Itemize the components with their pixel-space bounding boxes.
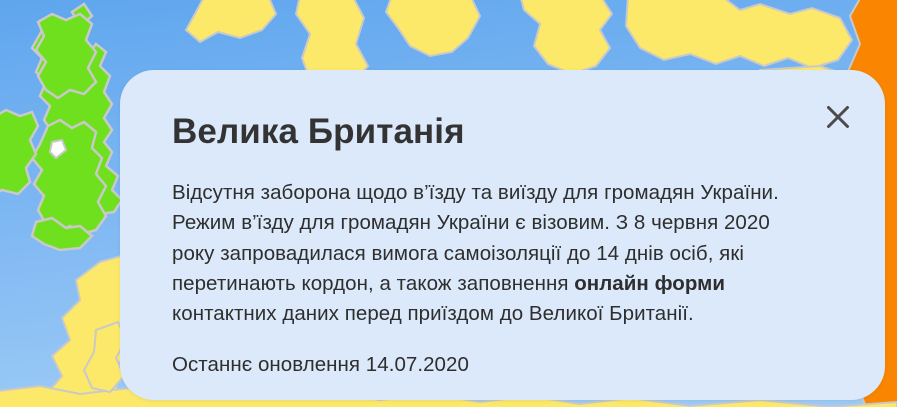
online-form-link[interactable]: онлайн форми (574, 272, 725, 295)
close-icon (825, 104, 851, 130)
map-region-scotland[interactable] (36, 14, 96, 98)
screen: Велика Британія Відсутня заборона щодо в… (0, 0, 897, 407)
country-info-card: Велика Британія Відсутня заборона щодо в… (120, 70, 885, 400)
card-body-part-2: контактних даних перед приїздом до Велик… (172, 302, 694, 325)
last-updated-text: Останнє оновлення 14.07.2020 (172, 329, 833, 380)
page-title: Велика Британія (172, 106, 833, 152)
close-button[interactable] (817, 96, 859, 138)
card-body-text: Відсутня заборона щодо в’їзду та виїзду … (172, 152, 812, 329)
map-region-great-britain-england[interactable] (32, 120, 106, 234)
